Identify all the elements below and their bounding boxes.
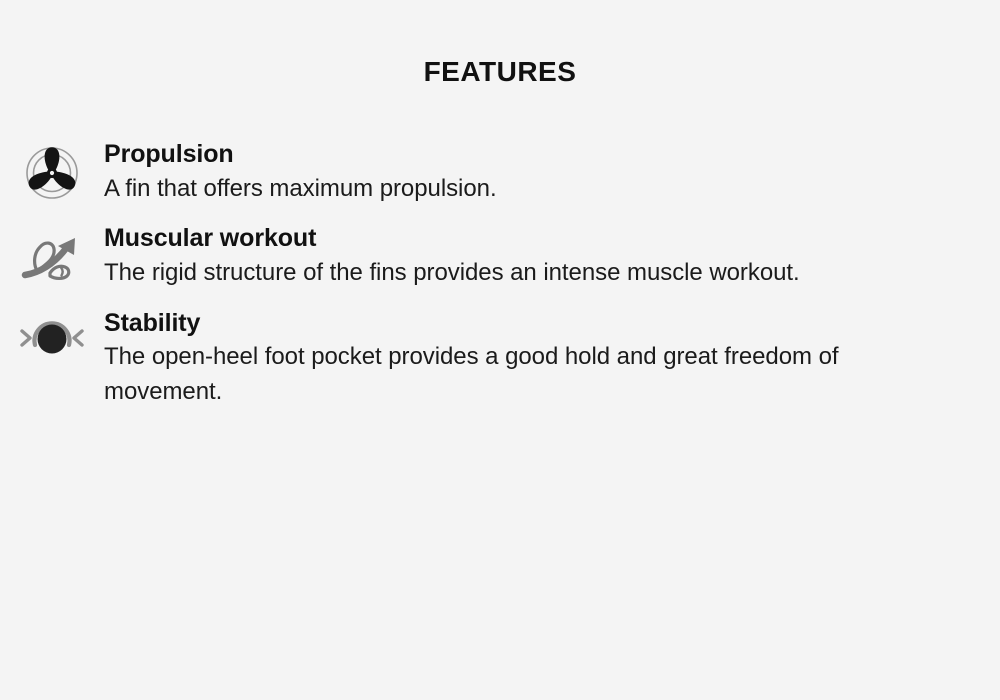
page-title: FEATURES [0,57,1000,88]
feature-description: The rigid structure of the fins provides… [104,256,916,291]
feature-title: Muscular workout [104,224,916,254]
flexed-arm-arrow-icon [0,224,104,284]
features-panel: FEATURES [0,0,1000,700]
feature-text-block: Muscular workout The rigid structure of … [104,224,968,290]
feature-text-block: Stability The open-heel foot pocket prov… [104,309,968,410]
list-item: Stability The open-heel foot pocket prov… [0,309,1000,410]
list-item: Muscular workout The rigid structure of … [0,224,1000,290]
stability-balance-icon [0,309,104,363]
list-item: Propulsion A fin that offers maximum pro… [0,140,1000,206]
feature-list: Propulsion A fin that offers maximum pro… [0,140,1000,428]
feature-description: The open-heel foot pocket provides a goo… [104,340,916,410]
propeller-icon [0,140,104,202]
feature-text-block: Propulsion A fin that offers maximum pro… [104,140,968,206]
feature-description: A fin that offers maximum propulsion. [104,172,916,207]
feature-title: Propulsion [104,140,916,170]
feature-title: Stability [104,309,916,339]
